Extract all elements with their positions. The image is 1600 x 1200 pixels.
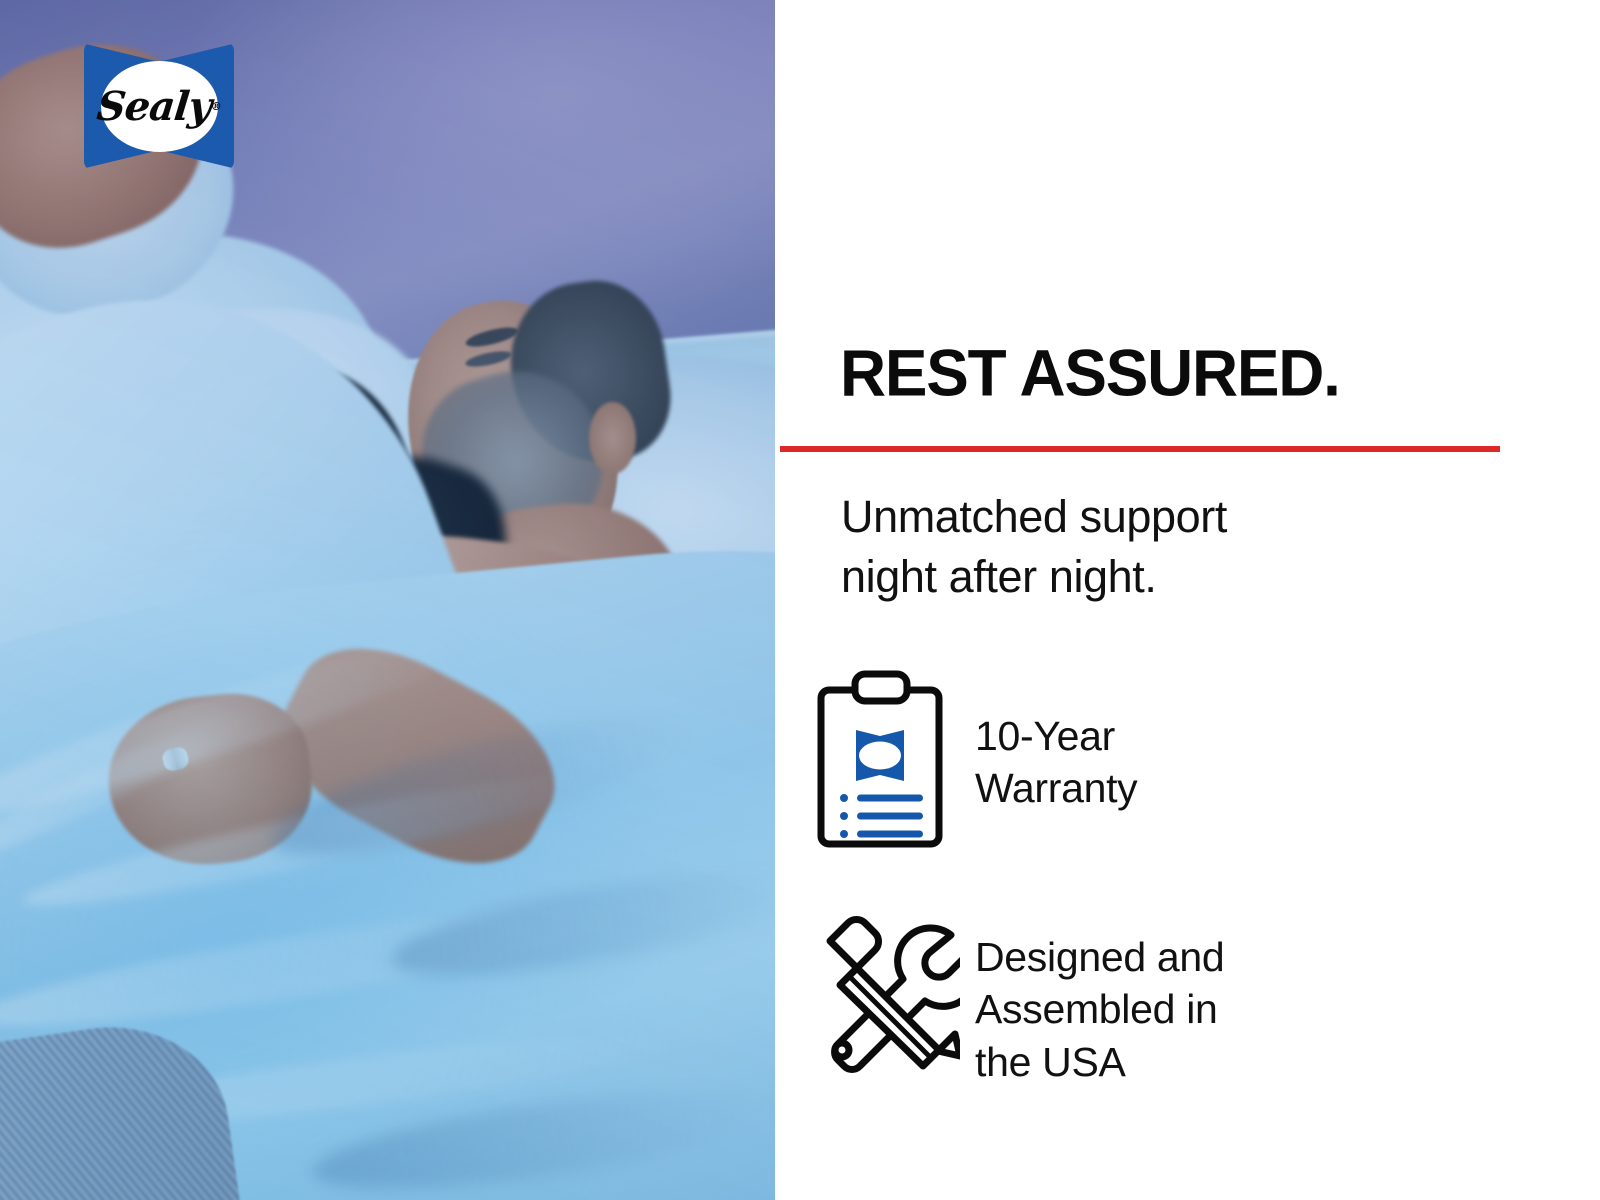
sealy-trademark-symbol: ® bbox=[210, 100, 221, 113]
night-color-grade-overlay bbox=[0, 0, 775, 1200]
red-divider-rule bbox=[780, 446, 1500, 452]
subheadline: Unmatched support night after night. bbox=[841, 487, 1227, 608]
feature-designed-usa-label-line-3: the USA bbox=[975, 1036, 1224, 1088]
feature-warranty-label-line-1: 10-Year bbox=[975, 710, 1137, 762]
feature-warranty-label: 10-Year Warranty bbox=[975, 668, 1137, 815]
couple-sleeping-night-photo: Sealy® bbox=[0, 0, 775, 1200]
sealy-logo-wordmark: Sealy® bbox=[77, 41, 241, 171]
feature-warranty: 10-Year Warranty bbox=[775, 668, 1137, 853]
feature-warranty-label-line-2: Warranty bbox=[975, 762, 1137, 814]
feature-designed-usa-label: Designed and Assembled in the USA bbox=[975, 913, 1224, 1088]
subheadline-line-1: Unmatched support bbox=[841, 487, 1227, 547]
sealy-logo-text: Sealy bbox=[95, 83, 214, 130]
clipboard-warranty-icon bbox=[775, 668, 975, 853]
subheadline-line-2: night after night. bbox=[841, 547, 1227, 607]
content-panel: REST ASSURED. Unmatched support night af… bbox=[775, 0, 1600, 1200]
sealy-logo: Sealy® bbox=[84, 41, 234, 171]
pencil-wrench-icon bbox=[775, 913, 975, 1078]
feature-designed-usa: Designed and Assembled in the USA bbox=[775, 913, 1224, 1088]
feature-designed-usa-label-line-1: Designed and bbox=[975, 931, 1224, 983]
feature-designed-usa-label-line-2: Assembled in bbox=[975, 983, 1224, 1035]
sealy-rest-assured-ad: Sealy® REST ASSURED. Unmatched support n… bbox=[0, 0, 1600, 1200]
page-title: REST ASSURED. bbox=[840, 336, 1340, 411]
